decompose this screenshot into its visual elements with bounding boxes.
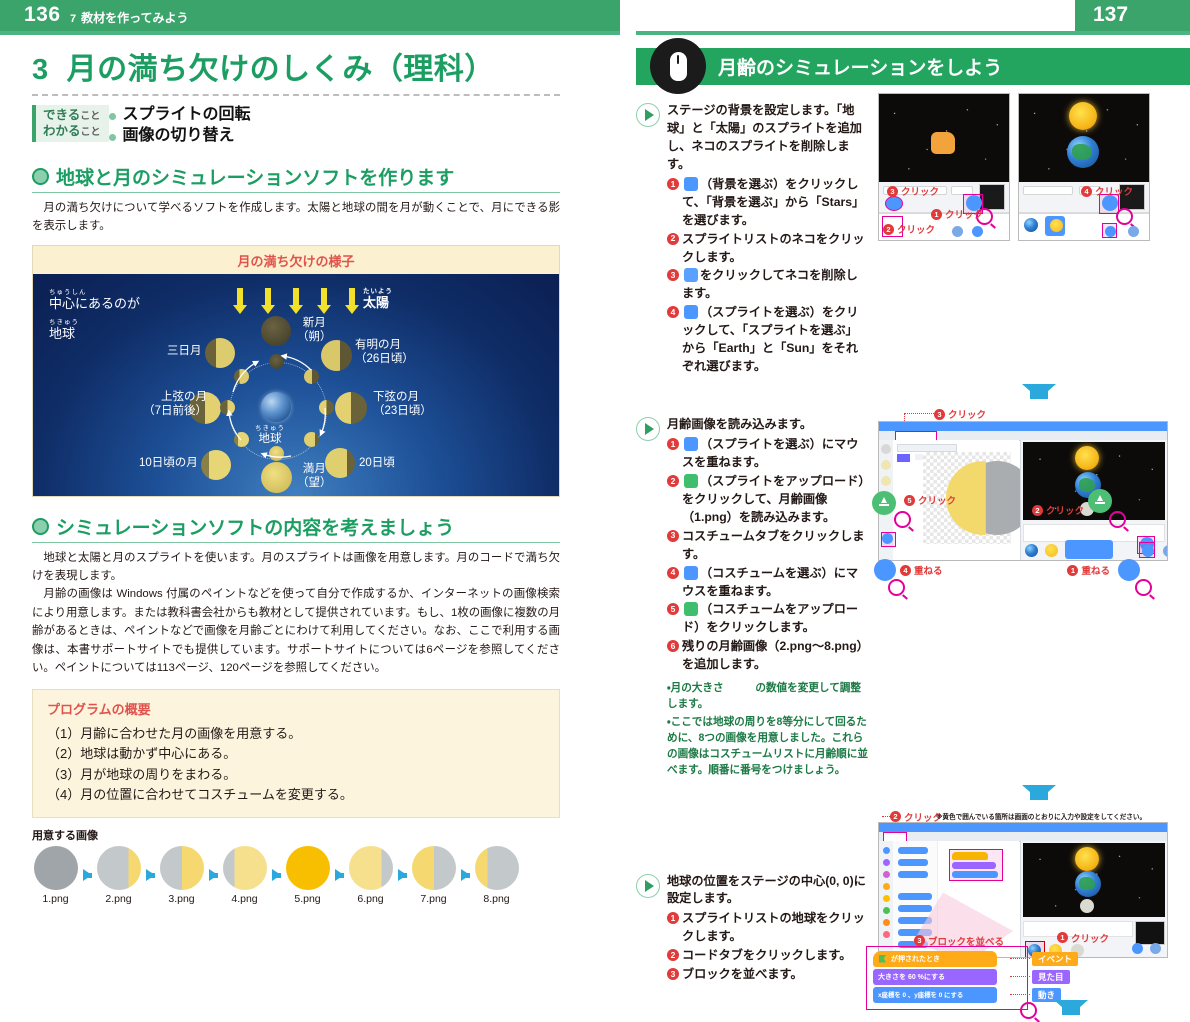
orbit-direction-arrows bbox=[213, 348, 341, 468]
event-block-label: が押されたとき bbox=[891, 954, 940, 964]
phase-label-jogen: 上弦の月（7日前後） bbox=[143, 390, 207, 418]
choose-sprite-icon bbox=[684, 305, 698, 319]
list-item: 2（スプライトをアップロード）をクリックして、月齢画像（1.png）を読み込みま… bbox=[667, 473, 868, 527]
image-filename: 2.png bbox=[95, 893, 142, 905]
step-number: 4 bbox=[667, 567, 679, 579]
paragraph: 地球と太陽と月のスプライトを使います。月のスプライトは画像を用意します。月のコー… bbox=[32, 549, 560, 586]
block-palette-categories[interactable] bbox=[879, 841, 893, 957]
screenshot-pair-1: 3クリック 1クリック 2クリック bbox=[878, 93, 1150, 376]
objectives-row: できること わかること スプライトの回転 画像の切り替え bbox=[32, 105, 560, 147]
sun-label: たいよう太陽 bbox=[363, 289, 393, 311]
section-number: 3 bbox=[32, 54, 49, 87]
step-number: 3 bbox=[667, 530, 679, 542]
backdrop-fab[interactable] bbox=[1163, 545, 1168, 557]
sun-ray-arrow bbox=[293, 288, 299, 306]
figure-caption: 月の満ち欠けの様子 bbox=[33, 246, 559, 274]
motion-block-label: x座標を 0 、y座標を 0 にする bbox=[878, 990, 963, 999]
sun-ray-arrow bbox=[237, 288, 243, 306]
image-filename: 6.png bbox=[347, 893, 394, 905]
sprite-fab[interactable] bbox=[952, 226, 963, 237]
click-tag-4: 4重ねる bbox=[900, 563, 943, 577]
program-overview-box: プログラムの概要 （1）月齢に合わせた月の画像を用意する。 （2）地球は動かず中… bbox=[32, 689, 560, 818]
right-running-head: 137 bbox=[1075, 0, 1190, 31]
image-item: 1.png bbox=[32, 846, 79, 905]
right-page-number: 137 bbox=[1093, 3, 1128, 27]
list-item: 3ブロックを並べます。 bbox=[667, 966, 868, 984]
step-number: 3 bbox=[667, 269, 679, 281]
paragraph: 月齢の画像は Windows 付属のペイントなどを使って自分で作成するか、インタ… bbox=[32, 585, 560, 677]
click-tag-5: 5クリック bbox=[904, 493, 956, 507]
step-number: 4 bbox=[667, 306, 679, 318]
zoom-icon bbox=[894, 511, 911, 528]
zoom-icon bbox=[1135, 579, 1152, 596]
moon-sprite-thumb[interactable] bbox=[1065, 540, 1113, 559]
list-item: 4（コスチュームを選ぶ）にマウスを重ねます。 bbox=[667, 565, 868, 601]
image-item: 4.png bbox=[221, 846, 268, 905]
step-number: 1 bbox=[667, 178, 679, 190]
choose-costume-fab[interactable] bbox=[882, 533, 893, 544]
delete-icon bbox=[684, 268, 698, 282]
choose-costume-fab-big[interactable] bbox=[874, 559, 896, 581]
phase-label-kagen: 下弦の月（23日頃） bbox=[373, 390, 432, 418]
step-2-row: 月齢画像を読み込みます。 1（スプライトを選ぶ）にマウスを重ねます。 2（スプラ… bbox=[636, 407, 1190, 778]
click-tag-3: 3クリック bbox=[887, 184, 939, 198]
earth-sprite bbox=[1067, 136, 1099, 168]
step-1-row: ステージの背景を設定します。「地球」と「太陽」のスプライトを追加し、ネコのスプラ… bbox=[636, 93, 1190, 376]
screenshot-code-editor-wrap: 2クリック ※黄色で囲んでいる箇所は画面のとおりに入力や設定をしてください。 bbox=[878, 806, 1168, 985]
objectives-label-2-sub: こと bbox=[81, 127, 101, 138]
phase-label-new: 新月（朔） bbox=[297, 316, 332, 344]
list-item: 1（スプライトを選ぶ）にマウスを重ねます。 bbox=[667, 436, 868, 472]
program-overview-line: （3）月が地球の周りをまわる。 bbox=[47, 765, 545, 786]
image-filename: 4.png bbox=[221, 893, 268, 905]
paragraph: 月の満ち欠けについて学べるソフトを作成します。太陽と地球の間を月が動くことで、月… bbox=[32, 199, 560, 236]
enlarged-block-stack[interactable]: が押されたとき 大きさを 60 %にする x座標を 0 、y座標を 0 にする bbox=[866, 946, 1028, 1010]
choose-costume-icon bbox=[684, 566, 698, 580]
left-running-head: 136 7教材を作ってみよう bbox=[0, 0, 620, 31]
image-filename: 3.png bbox=[158, 893, 205, 905]
step-number: 1 bbox=[667, 912, 679, 924]
program-overview-line: （4）月の位置に合わせてコスチュームを変更する。 bbox=[47, 785, 545, 806]
motion-block[interactable]: x座標を 0 、y座標を 0 にする bbox=[873, 987, 997, 1003]
screenshot-costume-editor-wrap: 3クリック bbox=[878, 407, 1168, 778]
step-lead: 月齢画像を読み込みます。 bbox=[667, 416, 868, 434]
click-tag-2: 2クリック bbox=[883, 222, 935, 236]
click-tag-1: 1重ねる bbox=[1067, 563, 1110, 577]
textbook-spread: 136 7教材を作ってみよう 137 3 月の満ち欠けのしくみ（理科） できるこ… bbox=[0, 0, 1190, 837]
step-number: 5 bbox=[667, 603, 679, 615]
banner-title: 月齢のシミュレーションをしよう bbox=[718, 53, 1002, 80]
left-column: 3 月の満ち欠けのしくみ（理科） できること わかること スプライトの回転 画像… bbox=[32, 44, 560, 905]
list-item: 1（背景を選ぶ）をクリックして、「背景を選ぶ」から「Stars」を選びます。 bbox=[667, 176, 868, 230]
heading-text: 地球と月のシミュレーションソフトを作ります bbox=[56, 163, 454, 190]
flow-arrow-3 bbox=[1054, 996, 1088, 1019]
backdrop-fab[interactable] bbox=[1150, 943, 1161, 954]
list-item: 3コスチュームタブをクリックします。 bbox=[667, 528, 868, 564]
dashed-divider bbox=[32, 94, 560, 96]
image-filename: 7.png bbox=[410, 893, 457, 905]
sun-sprite-thumb[interactable] bbox=[1045, 544, 1058, 557]
sun-sprite bbox=[1069, 102, 1097, 130]
flow-arrow-2 bbox=[888, 777, 1190, 806]
earth-sprite-thumb[interactable] bbox=[1025, 544, 1038, 557]
chapter-title: 教材を作ってみよう bbox=[81, 11, 188, 25]
chapter-number: 7 bbox=[70, 13, 76, 25]
list-item: 5（コスチュームをアップロード）をクリックします。 bbox=[667, 601, 868, 637]
editor-menubar bbox=[879, 823, 1167, 832]
screenshot-costume-editor[interactable] bbox=[878, 421, 1168, 561]
play-icon bbox=[636, 103, 660, 127]
phase-label-day10: 10日頃の月 bbox=[139, 456, 198, 470]
moon-thumb bbox=[349, 846, 393, 890]
image-item: 6.png bbox=[347, 846, 394, 905]
step-number: 2 bbox=[667, 475, 679, 487]
phase-label-ariake: 有明の月（26日頃） bbox=[355, 338, 414, 366]
step-number: 6 bbox=[667, 640, 679, 652]
step-number: 3 bbox=[667, 968, 679, 980]
choose-sprite-fab-big[interactable] bbox=[1118, 559, 1140, 581]
zoom-icon bbox=[1116, 208, 1133, 225]
event-block[interactable]: が押されたとき bbox=[873, 951, 997, 967]
arrow-icon bbox=[394, 869, 410, 881]
images-strip-title: 用意する画像 bbox=[32, 827, 560, 843]
legend-events: イベント bbox=[1032, 952, 1078, 966]
list-item: 画像の切り替え bbox=[109, 126, 251, 147]
zoom-icon bbox=[1109, 511, 1126, 528]
right-head-rule bbox=[636, 31, 1190, 35]
moon-new bbox=[261, 316, 291, 346]
zoom-icon bbox=[1020, 1002, 1037, 1019]
image-filename: 8.png bbox=[473, 893, 520, 905]
heading-make-simulation: 地球と月のシミュレーションソフトを作ります bbox=[32, 163, 560, 190]
step-3-items: 1スプライトリストの地球をクリックします。 2コードタブをクリックします。 3ブ… bbox=[667, 910, 868, 984]
screenshot-earth-sun-stage[interactable]: 4クリック bbox=[1018, 93, 1150, 241]
flow-arrow-1 bbox=[888, 376, 1190, 405]
arrow-icon bbox=[79, 869, 95, 881]
step-1: ステージの背景を設定します。「地球」と「太陽」のスプライトを追加し、ネコのスプラ… bbox=[636, 102, 868, 376]
scratch-cat-sprite bbox=[931, 132, 955, 154]
sun-ray-arrow bbox=[321, 288, 327, 306]
body-paragraphs: 地球と太陽と月のスプライトを使います。月のスプライトは画像を用意します。月のコー… bbox=[32, 549, 560, 678]
looks-block-label: 大きさを 60 %にする bbox=[878, 972, 945, 982]
chapter-heading: 7教材を作ってみよう bbox=[70, 9, 189, 26]
list-item: スプライトの回転 bbox=[109, 105, 251, 126]
phase-label-day20: 20日頃 bbox=[359, 456, 395, 470]
image-item: 8.png bbox=[473, 846, 520, 905]
step-2-items: 1（スプライトを選ぶ）にマウスを重ねます。 2（スプライトをアップロード）をクリ… bbox=[667, 436, 868, 674]
program-overview-title: プログラムの概要 bbox=[47, 699, 545, 718]
step-number: 2 bbox=[667, 233, 679, 245]
list-item: 2コードタブをクリックします。 bbox=[667, 947, 868, 965]
moon-thumb bbox=[475, 846, 519, 890]
heading-think-content: シミュレーションソフトの内容を考えましょう bbox=[32, 513, 560, 540]
step-1-items: 1（背景を選ぶ）をクリックして、「背景を選ぶ」から「Stars」を選びます。 2… bbox=[667, 176, 868, 376]
arrow-icon bbox=[205, 869, 221, 881]
sprite-fab[interactable] bbox=[1105, 226, 1116, 237]
image-item: 3.png bbox=[158, 846, 205, 905]
image-filename: 1.png bbox=[32, 893, 79, 905]
objectives-label-1: できる bbox=[43, 108, 80, 122]
list-item: 4（スプライトを選ぶ）をクリックして、「スプライトを選ぶ」から「Earth」と「… bbox=[667, 304, 868, 376]
earth-sprite-thumb[interactable] bbox=[1024, 218, 1038, 232]
click-tag-4: 4クリック bbox=[1081, 184, 1133, 198]
arrow-icon bbox=[331, 869, 347, 881]
upload-icon bbox=[684, 474, 698, 488]
zoom-icon bbox=[888, 579, 905, 596]
arrow-icon bbox=[268, 869, 284, 881]
backdrop-icon bbox=[684, 177, 698, 191]
upload-sprite-fab-left[interactable] bbox=[872, 491, 896, 515]
bullet-icon bbox=[32, 168, 49, 185]
click-tag-2: 2クリック bbox=[1032, 503, 1084, 517]
click-tag-1: 1クリック bbox=[1057, 931, 1109, 945]
step-lead: 地球の位置をステージの中心(0, 0)に設定します。 bbox=[667, 873, 868, 909]
image-item: 5.png bbox=[284, 846, 331, 905]
backdrop-fab[interactable] bbox=[972, 226, 983, 237]
objectives-list: スプライトの回転 画像の切り替え bbox=[109, 105, 251, 147]
objectives-label-1-sub: こと bbox=[80, 111, 100, 122]
play-icon bbox=[636, 417, 660, 441]
moon-thumb bbox=[160, 846, 204, 890]
step-number: 1 bbox=[667, 438, 679, 450]
bullet-icon bbox=[32, 518, 49, 535]
heading-text: シミュレーションソフトの内容を考えましょう bbox=[56, 513, 454, 540]
left-page-number: 136 bbox=[24, 3, 61, 27]
step-lead: ステージの背景を設定します。「地球」と「太陽」のスプライトを追加し、ネコのスプラ… bbox=[667, 102, 868, 174]
moon-phase-figure: 月の満ち欠けの様子 たいよう太陽 ちゅうしん中心にあるのが ちきゅう地球 bbox=[32, 245, 560, 497]
screenshot-cat-stage[interactable]: 3クリック 1クリック 2クリック bbox=[878, 93, 1010, 241]
caution-text: ※黄色で囲んでいる箇所は画面のとおりに入力や設定をしてください。 bbox=[936, 811, 1146, 821]
upload-sprite-fab-right[interactable] bbox=[1088, 489, 1112, 513]
choose-sprite-icon bbox=[684, 437, 698, 451]
sprite-fab[interactable] bbox=[1132, 943, 1143, 954]
mouse-icon bbox=[650, 38, 706, 94]
sprite-fab[interactable] bbox=[1142, 545, 1154, 557]
phase-label-mikazuki: 三日月 bbox=[167, 344, 202, 358]
left-head-rule bbox=[0, 31, 620, 35]
center-note: ちゅうしん中心にあるのが bbox=[49, 290, 140, 312]
heading-rule bbox=[32, 542, 560, 543]
moon-thumb bbox=[34, 846, 78, 890]
center-note-2: ちきゅう地球 bbox=[49, 320, 79, 342]
moon-thumb bbox=[286, 846, 330, 890]
step-number: 2 bbox=[667, 949, 679, 961]
sun-ray-arrow bbox=[349, 288, 355, 306]
list-item: 2スプライトリストのネコをクリックします。 bbox=[667, 231, 868, 267]
section-title: 3 月の満ち欠けのしくみ（理科） bbox=[32, 44, 560, 88]
legend-looks: 見た目 bbox=[1032, 970, 1070, 984]
sun-ray-arrow bbox=[265, 288, 271, 306]
step-3-row: 地球の位置をステージの中心(0, 0)に設定します。 1スプライトリストの地球を… bbox=[636, 806, 1190, 985]
delete-sprite-button[interactable] bbox=[885, 196, 903, 211]
section-banner: 月齢のシミュレーションをしよう bbox=[636, 48, 1190, 85]
right-column: 月齢のシミュレーションをしよう ステージの背景を設定します。「地球」と「太陽」の… bbox=[636, 48, 1190, 984]
heading-rule bbox=[32, 192, 560, 193]
moon-thumb bbox=[412, 846, 456, 890]
list-item: 6残りの月齢画像（2.png〜8.png）を追加します。 bbox=[667, 638, 868, 674]
list-item: 1スプライトリストの地球をクリックします。 bbox=[667, 910, 868, 946]
upload-icon bbox=[684, 602, 698, 616]
image-item: 2.png bbox=[95, 846, 142, 905]
arrow-icon bbox=[457, 869, 473, 881]
program-overview-line: （2）地球は動かず中心にある。 bbox=[47, 744, 545, 765]
click-tag-3: 3クリック bbox=[934, 407, 986, 421]
intro-paragraph: 月の満ち欠けについて学べるソフトを作成します。太陽と地球の間を月が動くことで、月… bbox=[32, 199, 560, 236]
figure-body: たいよう太陽 ちゅうしん中心にあるのが ちきゅう地球 新月（朔） 有明の月（26… bbox=[33, 274, 559, 496]
editor-menubar bbox=[879, 422, 1167, 431]
backdrop-fab[interactable] bbox=[1128, 226, 1139, 237]
section-title-text: 月の満ち欠けのしくみ（理科） bbox=[67, 44, 495, 88]
list-item: 3をクリックしてネコを削除します。 bbox=[667, 267, 868, 303]
note-2: ・ここでは地球の周りを8等分にして回るために、8つの画像を用意しました。これらの… bbox=[667, 715, 868, 779]
arrow-icon bbox=[142, 869, 158, 881]
note-1: ・月の大きさ の数値を変更して調整します。 bbox=[667, 681, 868, 713]
step-3: 地球の位置をステージの中心(0, 0)に設定します。 1スプライトリストの地球を… bbox=[636, 873, 868, 985]
image-item: 7.png bbox=[410, 846, 457, 905]
highlighted-script[interactable] bbox=[949, 849, 1003, 881]
play-icon bbox=[636, 874, 660, 898]
images-strip: 1.png 2.png 3.png 4.png 5.png bbox=[32, 846, 560, 905]
objectives-label-2: わかる bbox=[43, 124, 81, 138]
image-filename: 5.png bbox=[284, 893, 331, 905]
moon-thumb bbox=[97, 846, 141, 890]
looks-block[interactable]: 大きさを 60 %にする bbox=[873, 969, 997, 985]
moon-thumb bbox=[223, 846, 267, 890]
objectives-label: できること わかること bbox=[32, 105, 109, 142]
step-2: 月齢画像を読み込みます。 1（スプライトを選ぶ）にマウスを重ねます。 2（スプラ… bbox=[636, 416, 868, 778]
program-overview-line: （1）月齢に合わせた月の画像を用意する。 bbox=[47, 724, 545, 745]
click-tag-1: 1クリック bbox=[931, 207, 983, 221]
